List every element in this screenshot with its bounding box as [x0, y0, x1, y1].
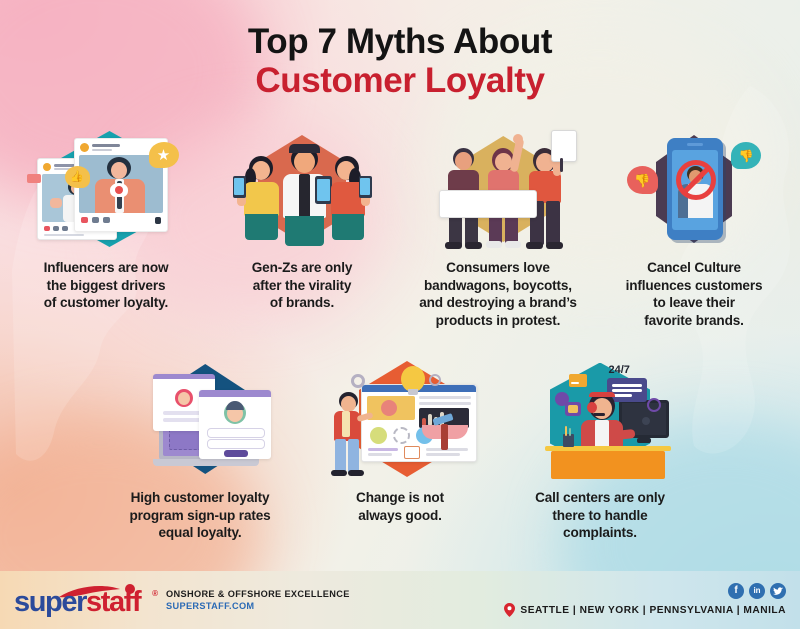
- footer-tagline-group: ONSHORE & OFFSHORE EXCELLENCE SUPERSTAFF…: [166, 588, 350, 613]
- myth-caption-6: Change is not always good.: [356, 489, 444, 524]
- myth-item-4: 👎 👎 Cancel Culture influences customers …: [596, 128, 792, 330]
- thumbs-down-bubble-teal-icon: 👎: [731, 142, 761, 169]
- star-badge-icon: ★: [149, 142, 179, 168]
- myth-item-7: 24/7: [500, 358, 700, 542]
- linkedin-icon[interactable]: in: [749, 583, 765, 599]
- post-share-icon: [62, 226, 68, 231]
- myth-row-1: ★ 👍 Influencers are now the biggest driv…: [8, 128, 792, 330]
- post-heart-icon: [44, 226, 50, 231]
- chat-bubble-icon: [27, 174, 41, 183]
- pencil-cup: [563, 434, 574, 447]
- illustration-call-center-agent: 24/7: [513, 358, 688, 480]
- myth-caption-5: High customer loyalty program sign-up ra…: [129, 489, 270, 542]
- superstaff-logo[interactable]: superstaff ®: [14, 583, 156, 617]
- myth-caption-1: Influencers are now the biggest drivers …: [44, 259, 169, 312]
- footer-contact-group: f in SEATTLE | NEW YORK | PENNSYLVANIA |…: [504, 583, 786, 617]
- illustration-cancelled-person-on-phone: 👎 👎: [599, 128, 789, 250]
- smartphone: [233, 176, 246, 198]
- myth-caption-7: Call centers are only there to handle co…: [535, 489, 665, 542]
- infographic-canvas: Top 7 Myths About Customer Loyalty: [0, 0, 800, 629]
- myth-caption-4: Cancel Culture influences customers to l…: [626, 259, 763, 330]
- logo-wordmark: superstaff: [14, 588, 140, 617]
- location-pin-icon: [504, 603, 515, 617]
- browser-window: [361, 384, 477, 462]
- password-input[interactable]: [207, 439, 265, 449]
- signup-card-front: [199, 390, 271, 459]
- username-input[interactable]: [207, 428, 265, 438]
- laptop-base: [153, 459, 259, 466]
- footer-bar: superstaff ® ONSHORE & OFFSHORE EXCELLEN…: [0, 571, 800, 629]
- headset-mic: [593, 413, 605, 416]
- footer-tagline: ONSHORE & OFFSHORE EXCELLENCE: [166, 588, 350, 600]
- myth-caption-3: Consumers love bandwagons, boycotts, and…: [419, 259, 577, 330]
- myth-item-3: Consumers love bandwagons, boycotts, and…: [400, 128, 596, 330]
- logo-text-staff: staff: [86, 586, 140, 618]
- myth-row-2: High customer loyalty program sign-up ra…: [100, 358, 700, 542]
- desk-front: [551, 451, 665, 479]
- post-comment-icon: [53, 226, 59, 231]
- thumbs-down-bubble-red-icon: 👎: [627, 166, 658, 194]
- gear-icon-left: [351, 374, 365, 388]
- card-icon: [569, 374, 587, 387]
- protest-banner: [439, 190, 537, 218]
- illustration-influencer-social-posts: ★ 👍: [19, 128, 194, 250]
- illustration-laptop-signup-form: [113, 358, 288, 480]
- myth-caption-2: Gen-Zs are only after the virality of br…: [252, 259, 353, 312]
- logo-text-super: super: [14, 586, 86, 618]
- title-line-2: Customer Loyalty: [0, 61, 800, 100]
- footer-website-link[interactable]: SUPERSTAFF.COM: [166, 600, 350, 612]
- smartphone: [359, 176, 372, 198]
- image-placeholder-icon: [404, 446, 420, 459]
- illustration-gen-z-three-people-with-phones: [215, 128, 390, 250]
- gear-icon-right: [429, 374, 441, 386]
- protest-placard: [551, 130, 577, 162]
- twitter-icon[interactable]: [770, 583, 786, 599]
- myth-item-5: High customer loyalty program sign-up ra…: [100, 358, 300, 542]
- illustration-website-redesign-presentation: [313, 358, 488, 480]
- myth-item-2: Gen-Zs are only after the virality of br…: [204, 128, 400, 330]
- badge-24-7: 24/7: [609, 364, 630, 376]
- logo-registered-mark: ®: [152, 589, 158, 598]
- office-locations: SEATTLE | NEW YORK | PENNSYLVANIA | MANI…: [504, 603, 786, 617]
- twitter-bird-glyph: [773, 587, 783, 596]
- thumbs-up-badge-icon: 👍: [65, 166, 90, 188]
- social-links: f in: [728, 583, 786, 599]
- post-avatar: [43, 163, 51, 171]
- footer-brand-group: superstaff ® ONSHORE & OFFSHORE EXCELLEN…: [14, 583, 350, 617]
- clock-icon: [647, 398, 661, 412]
- signup-button[interactable]: [224, 450, 248, 457]
- myth-item-1: ★ 👍 Influencers are now the biggest driv…: [8, 128, 204, 330]
- myth-item-6: Change is not always good.: [300, 358, 500, 542]
- headset-band: [589, 392, 615, 397]
- smartphone-frame: [667, 138, 723, 240]
- facebook-icon[interactable]: f: [728, 583, 744, 599]
- bookmark-icon: [155, 217, 161, 224]
- page-title: Top 7 Myths About Customer Loyalty: [0, 22, 800, 100]
- title-line-1: Top 7 Myths About: [0, 22, 800, 61]
- locations-text: SEATTLE | NEW YORK | PENNSYLVANIA | MANI…: [520, 605, 786, 616]
- headset-earpiece: [587, 402, 597, 413]
- illustration-protesters-with-blank-banners: [411, 128, 586, 250]
